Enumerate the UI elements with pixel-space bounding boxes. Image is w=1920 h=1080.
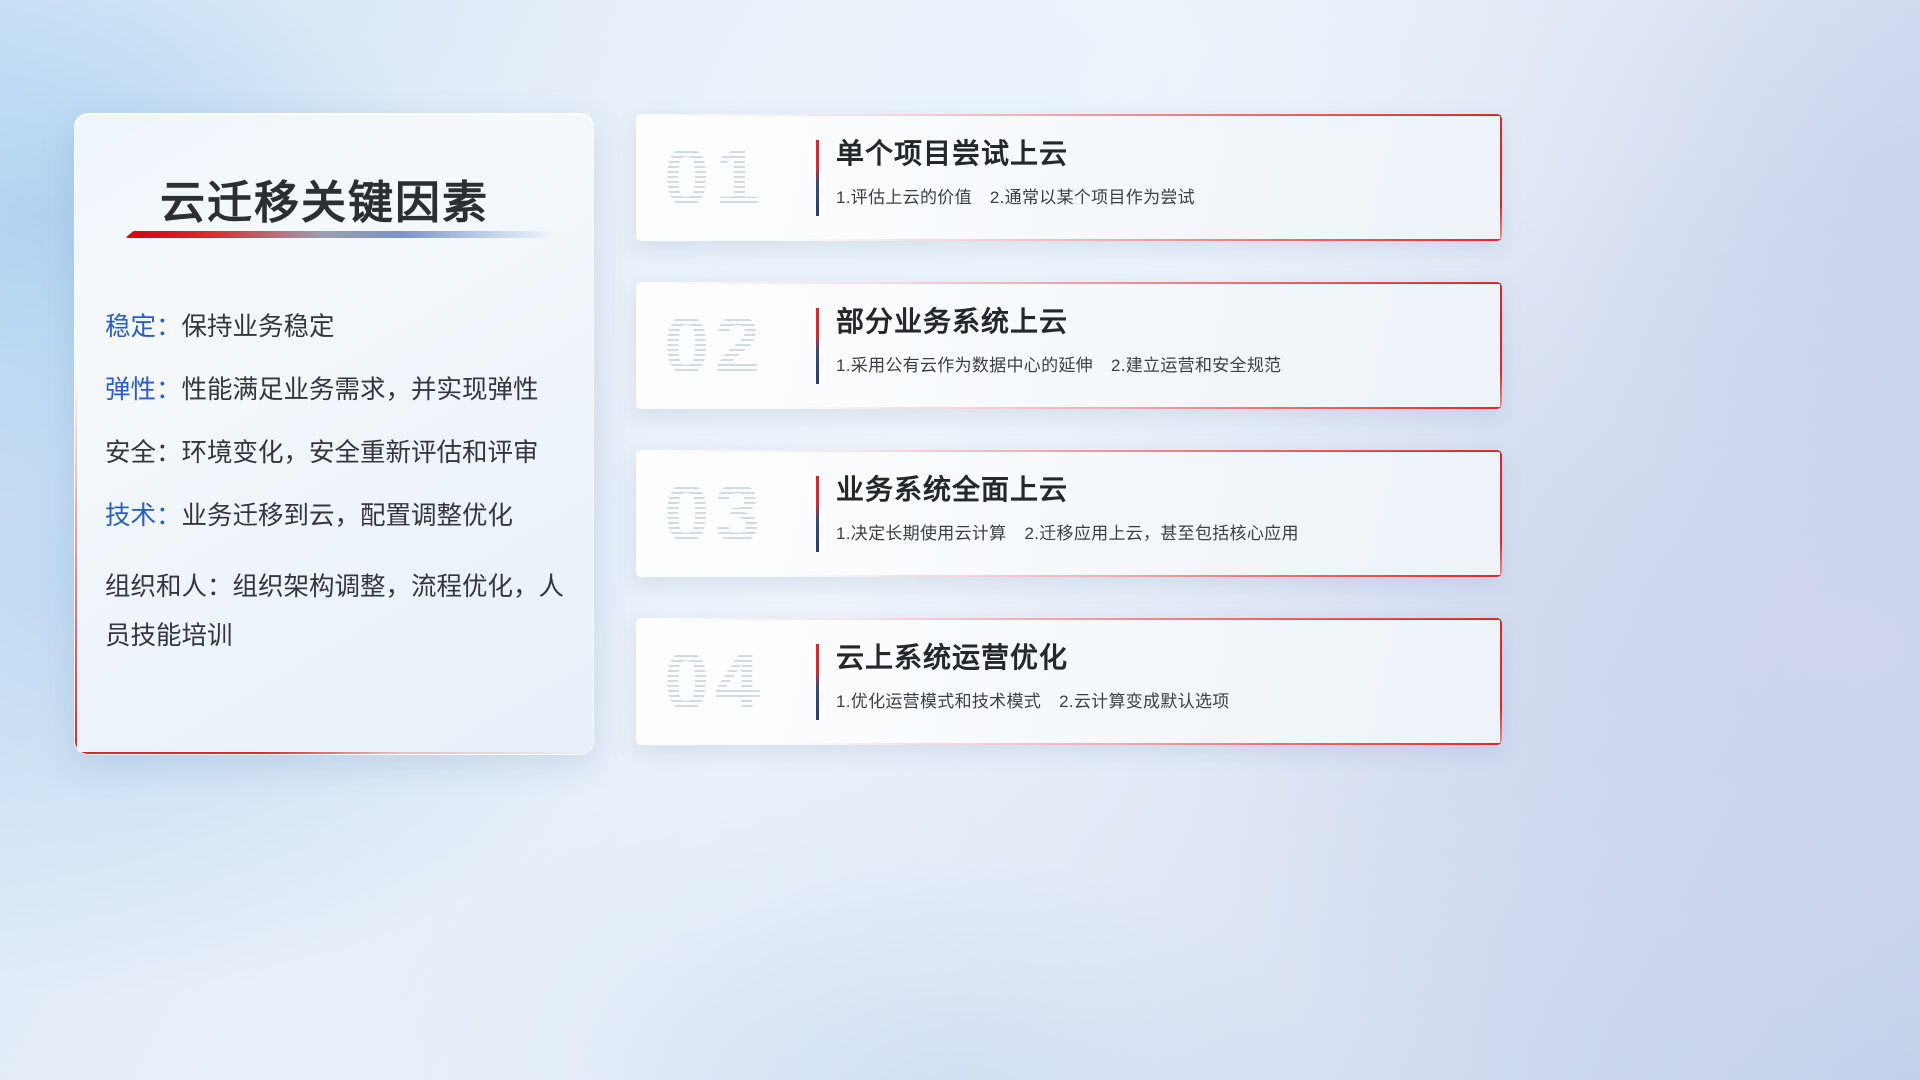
step-point-2: 2.迁移应用上云，甚至包括核心应用 bbox=[1024, 524, 1298, 543]
step-card-03[interactable]: 03 业务系统全面上云 1.决定长期使用云计算2.迁移应用上云，甚至包括核心应用 bbox=[636, 450, 1502, 577]
step-text-block: 部分业务系统上云 1.采用公有云作为数据中心的延伸2.建立运营和安全规范 bbox=[836, 304, 1478, 376]
step-card-02[interactable]: 02 部分业务系统上云 1.采用公有云作为数据中心的延伸2.建立运营和安全规范 bbox=[636, 282, 1502, 409]
page-title: 云迁移关键因素 bbox=[160, 166, 489, 231]
card-right-accent bbox=[1500, 450, 1502, 577]
step-accent-bar bbox=[816, 140, 819, 216]
list-item: 稳定：保持业务稳定 bbox=[105, 310, 575, 344]
key-factors-panel: 云迁移关键因素 稳定：保持业务稳定 弹性：性能满足业务需求，并实现弹性 安全：环… bbox=[74, 113, 594, 755]
factor-label: 技术： bbox=[105, 502, 182, 530]
card-bottom-accent bbox=[792, 407, 1502, 409]
factor-label: 稳定： bbox=[105, 313, 182, 341]
step-description: 1.决定长期使用云计算2.迁移应用上云，甚至包括核心应用 bbox=[836, 519, 1478, 544]
list-item: 技术：业务迁移到云，配置调整优化 bbox=[105, 499, 575, 533]
step-point-1: 1.采用公有云作为数据中心的延伸 bbox=[836, 356, 1093, 375]
step-title: 业务系统全面上云 bbox=[836, 472, 1478, 507]
factor-label: 弹性： bbox=[105, 376, 182, 404]
step-text-block: 业务系统全面上云 1.决定长期使用云计算2.迁移应用上云，甚至包括核心应用 bbox=[836, 472, 1478, 544]
key-factors-list: 稳定：保持业务稳定 弹性：性能满足业务需求，并实现弹性 安全：环境变化，安全重新… bbox=[105, 310, 575, 690]
step-accent-bar bbox=[816, 308, 819, 384]
factor-content: 保持业务稳定 bbox=[182, 313, 335, 341]
step-title: 单个项目尝试上云 bbox=[836, 136, 1478, 171]
card-top-accent bbox=[636, 618, 1502, 620]
step-description: 1.采用公有云作为数据中心的延伸2.建立运营和安全规范 bbox=[836, 351, 1478, 376]
factor-label: 安全： bbox=[105, 439, 182, 467]
card-top-accent bbox=[636, 450, 1502, 452]
factor-content: 性能满足业务需求，并实现弹性 bbox=[182, 376, 539, 404]
list-item: 安全：环境变化，安全重新评估和评审 bbox=[105, 436, 575, 470]
list-item: 弹性：性能满足业务需求，并实现弹性 bbox=[105, 373, 575, 407]
step-title: 部分业务系统上云 bbox=[836, 304, 1478, 339]
card-right-accent bbox=[1500, 618, 1502, 745]
title-underline-gradient bbox=[125, 231, 555, 238]
step-point-1: 1.优化运营模式和技术模式 bbox=[836, 692, 1041, 711]
step-accent-bar bbox=[816, 644, 819, 720]
list-item: 组织和人：组织架构调整，流程优化，人员技能培训 bbox=[105, 563, 575, 661]
step-number: 01 bbox=[664, 131, 765, 225]
step-number: 02 bbox=[664, 299, 765, 393]
step-point-2: 2.建立运营和安全规范 bbox=[1111, 356, 1281, 375]
card-right-accent bbox=[1500, 114, 1502, 241]
step-card-04[interactable]: 04 云上系统运营优化 1.优化运营模式和技术模式2.云计算变成默认选项 bbox=[636, 618, 1502, 745]
card-bottom-accent bbox=[792, 239, 1502, 241]
step-point-2: 2.通常以某个项目作为尝试 bbox=[990, 188, 1195, 207]
step-point-2: 2.云计算变成默认选项 bbox=[1059, 692, 1229, 711]
migration-steps-list: 01 单个项目尝试上云 1.评估上云的价值2.通常以某个项目作为尝试 02 部分… bbox=[636, 114, 1502, 786]
factor-content: 环境变化，安全重新评估和评审 bbox=[182, 439, 539, 467]
card-bottom-accent bbox=[792, 743, 1502, 745]
step-title: 云上系统运营优化 bbox=[836, 640, 1478, 675]
step-text-block: 云上系统运营优化 1.优化运营模式和技术模式2.云计算变成默认选项 bbox=[836, 640, 1478, 712]
factor-label: 组织和人： bbox=[105, 573, 233, 601]
card-bottom-accent bbox=[792, 575, 1502, 577]
step-number: 04 bbox=[664, 635, 765, 729]
step-card-01[interactable]: 01 单个项目尝试上云 1.评估上云的价值2.通常以某个项目作为尝试 bbox=[636, 114, 1502, 241]
step-description: 1.评估上云的价值2.通常以某个项目作为尝试 bbox=[836, 183, 1478, 208]
card-top-accent bbox=[636, 114, 1502, 116]
card-right-accent bbox=[1500, 282, 1502, 409]
step-point-1: 1.决定长期使用云计算 bbox=[836, 524, 1006, 543]
step-text-block: 单个项目尝试上云 1.评估上云的价值2.通常以某个项目作为尝试 bbox=[836, 136, 1478, 208]
slide-stage: 云迁移关键因素 稳定：保持业务稳定 弹性：性能满足业务需求，并实现弹性 安全：环… bbox=[0, 0, 1920, 1080]
card-top-accent bbox=[636, 282, 1502, 284]
step-description: 1.优化运营模式和技术模式2.云计算变成默认选项 bbox=[836, 687, 1478, 712]
factor-content: 业务迁移到云，配置调整优化 bbox=[182, 502, 514, 530]
step-number: 03 bbox=[664, 467, 765, 561]
step-accent-bar bbox=[816, 476, 819, 552]
step-point-1: 1.评估上云的价值 bbox=[836, 188, 972, 207]
